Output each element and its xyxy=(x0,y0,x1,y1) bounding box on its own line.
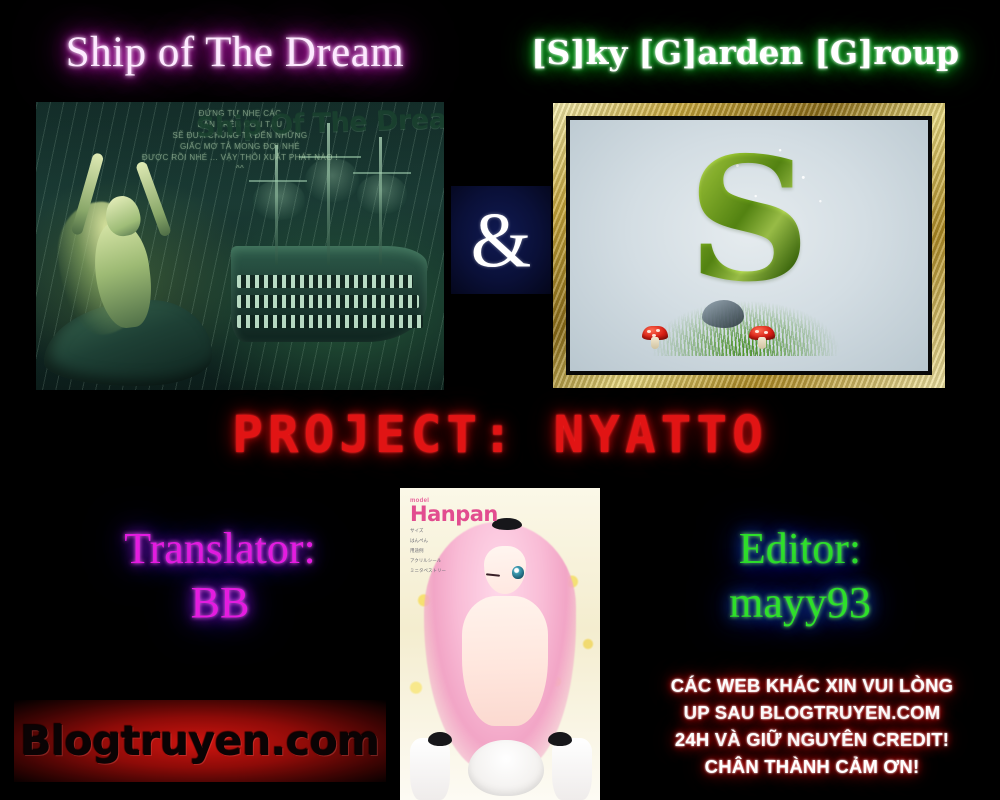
ship-sail xyxy=(253,180,305,220)
notice-line: UP SAU BLOGTRUYEN.COM xyxy=(628,699,996,726)
ship-gunport-row xyxy=(237,275,413,288)
translator-label: Translator: xyxy=(124,524,316,573)
mermaid-figure xyxy=(44,150,234,386)
mushroom-icon xyxy=(642,326,668,348)
ampersand-glyph: & xyxy=(471,201,532,279)
artwork-overlay-line: ^^ xyxy=(36,163,444,175)
repost-notice: CÁC WEB KHÁC XIN VUI LÒNG UP SAU BLOGTRU… xyxy=(628,672,996,780)
credit-editor: Editor: mayy93 xyxy=(600,522,1000,629)
mushroom-stem xyxy=(758,337,766,349)
ship-gunport-row xyxy=(237,315,423,328)
credits-page: Ship of The Dream [S]ky [G]arden [G]roup xyxy=(0,0,1000,800)
ribbon-bow xyxy=(548,732,572,746)
cover-meta-line: はんぺん xyxy=(410,538,498,545)
bunny-plush xyxy=(468,740,544,796)
cover-title-block: model Hanpan サイズ はんぺん 用途例 アクリルシール ミニタペスト… xyxy=(410,498,498,575)
project-title: PROJECT: NYATTO xyxy=(0,406,1000,465)
translator-name: BB xyxy=(20,576,420,630)
ship-gunport-row xyxy=(237,295,419,308)
cover-meta-line: ミニタペストリー xyxy=(410,568,498,575)
mushroom-stem xyxy=(651,337,659,349)
stone-rock xyxy=(702,300,744,328)
cover-title: Hanpan xyxy=(410,504,498,525)
group-title-ship-of-the-dream: Ship of The Dream xyxy=(0,30,470,75)
mushroom-icon xyxy=(749,326,775,348)
character-stocking xyxy=(552,738,592,800)
mermaid-ghost-ship-artwork: ĐỨNG TỰ NHẸ CÁC BẠN TRÊN CON TÀU SẼ ĐƯA … xyxy=(36,102,444,390)
editor-label: Editor: xyxy=(739,524,861,573)
ribbon-bow xyxy=(428,732,452,746)
manga-cover-image: model Hanpan サイズ はんぺん 用途例 アクリルシール ミニタペスト… xyxy=(400,488,600,800)
cover-meta-line: アクリルシール xyxy=(410,558,498,565)
logo-canvas: S xyxy=(566,116,932,375)
notice-line: CÁC WEB KHÁC XIN VUI LÒNG xyxy=(628,672,996,699)
group-title-sky-garden-group: [S]ky [G]arden [G]roup xyxy=(505,36,985,71)
character-eye xyxy=(512,566,524,579)
credit-translator: Translator: BB xyxy=(20,522,420,629)
grass-tuft xyxy=(642,276,850,356)
artwork-overlay-line: GIẤC MƠ TẢ MONG ĐỢI NHÉ xyxy=(36,141,444,153)
editor-name: mayy93 xyxy=(600,576,1000,630)
sky-garden-group-logo-frame: S xyxy=(553,103,945,388)
ampersand-separator: & xyxy=(451,186,551,294)
notice-line: 24H VÀ GIỮ NGUYÊN CREDIT! xyxy=(628,726,996,753)
blogtruyen-logo[interactable]: Blogtruyen.com xyxy=(14,700,386,782)
notice-line: CHÂN THÀNH CẢM ƠN! xyxy=(628,753,996,780)
cover-meta-line: 用途例 xyxy=(410,548,498,555)
blogtruyen-wordmark: Blogtruyen.com xyxy=(20,717,379,765)
character-stocking xyxy=(410,738,450,800)
artwork-overlay-line: ĐƯỢC RỒI NHÉ ... VẬY THÔI XUẤT PHÁT NÀO … xyxy=(36,152,444,164)
ship-sail xyxy=(357,174,407,214)
cover-meta-line: サイズ xyxy=(410,528,498,535)
character-body xyxy=(462,596,548,726)
